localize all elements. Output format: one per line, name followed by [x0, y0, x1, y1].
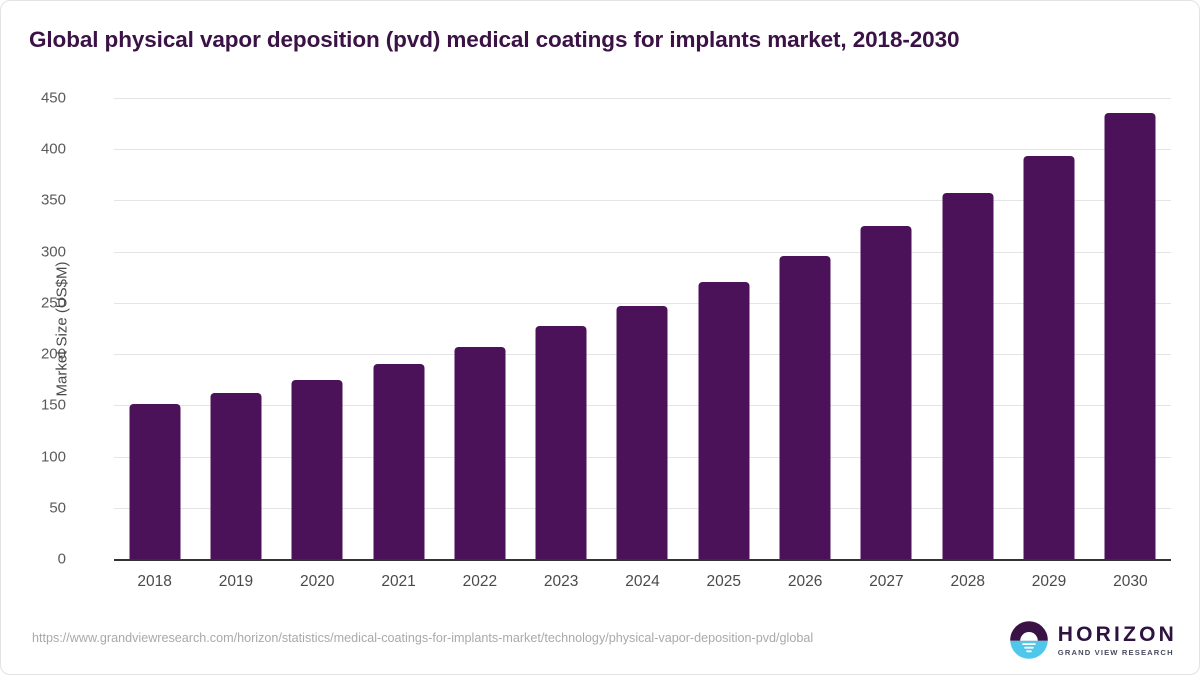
gridline: [114, 559, 1171, 561]
y-axis-tick-label: 50: [6, 499, 66, 516]
y-axis-tick-label: 300: [6, 243, 66, 260]
page-title: Global physical vapor deposition (pvd) m…: [29, 27, 1179, 53]
plot-area: 050100150200250300350400450 201820192020…: [114, 98, 1171, 559]
logo-tagline: GRAND VIEW RESEARCH: [1058, 649, 1177, 657]
x-tick-slot: 2019: [195, 98, 276, 559]
y-axis-tick-label: 450: [6, 90, 66, 107]
x-axis-tick-label: 2019: [219, 573, 253, 591]
x-tick-slot: 2028: [927, 98, 1008, 559]
x-tick-slot: 2022: [439, 98, 520, 559]
horizon-logo-icon: [1009, 620, 1049, 660]
x-tick-slot: 2024: [602, 98, 683, 559]
y-axis-tick-label: 350: [6, 192, 66, 209]
x-axis-tick-label: 2026: [788, 573, 822, 591]
x-tick-slot: 2029: [1008, 98, 1089, 559]
x-axis-tick-label: 2029: [1032, 573, 1066, 591]
x-axis-tick-label: 2021: [381, 573, 415, 591]
x-axis-tick-label: 2025: [707, 573, 741, 591]
logo-wordmark: HORIZON: [1058, 624, 1177, 645]
chart-card: Global physical vapor deposition (pvd) m…: [0, 0, 1200, 675]
x-tick-slot: 2026: [764, 98, 845, 559]
y-axis-title: Market Size (US$M): [54, 261, 71, 396]
x-axis-tick-label: 2028: [950, 573, 984, 591]
x-axis-tick-label: 2024: [625, 573, 659, 591]
x-tick-slot: 2018: [114, 98, 195, 559]
source-url[interactable]: https://www.grandviewresearch.com/horizo…: [32, 630, 937, 647]
x-tick-slot: 2027: [846, 98, 927, 559]
logo-text: HORIZON GRAND VIEW RESEARCH: [1058, 624, 1177, 657]
x-tick-slot: 2021: [358, 98, 439, 559]
x-axis-tick-label: 2022: [463, 573, 497, 591]
x-axis-tick-label: 2018: [137, 573, 171, 591]
x-axis-tick-label: 2023: [544, 573, 578, 591]
x-axis-tick-label: 2027: [869, 573, 903, 591]
y-axis-tick-label: 400: [6, 141, 66, 158]
horizon-logo: HORIZON GRAND VIEW RESEARCH: [1009, 619, 1177, 661]
x-tick-slot: 2030: [1090, 98, 1171, 559]
x-axis-tick-label: 2020: [300, 573, 334, 591]
x-tick-slot: 2025: [683, 98, 764, 559]
x-axis-tick-label: 2030: [1113, 573, 1147, 591]
y-axis-tick-label: 0: [6, 551, 66, 568]
y-axis-tick-label: 100: [6, 448, 66, 465]
x-tick-slot: 2020: [277, 98, 358, 559]
x-tick-slot: 2023: [521, 98, 602, 559]
y-axis-tick-label: 150: [6, 397, 66, 414]
